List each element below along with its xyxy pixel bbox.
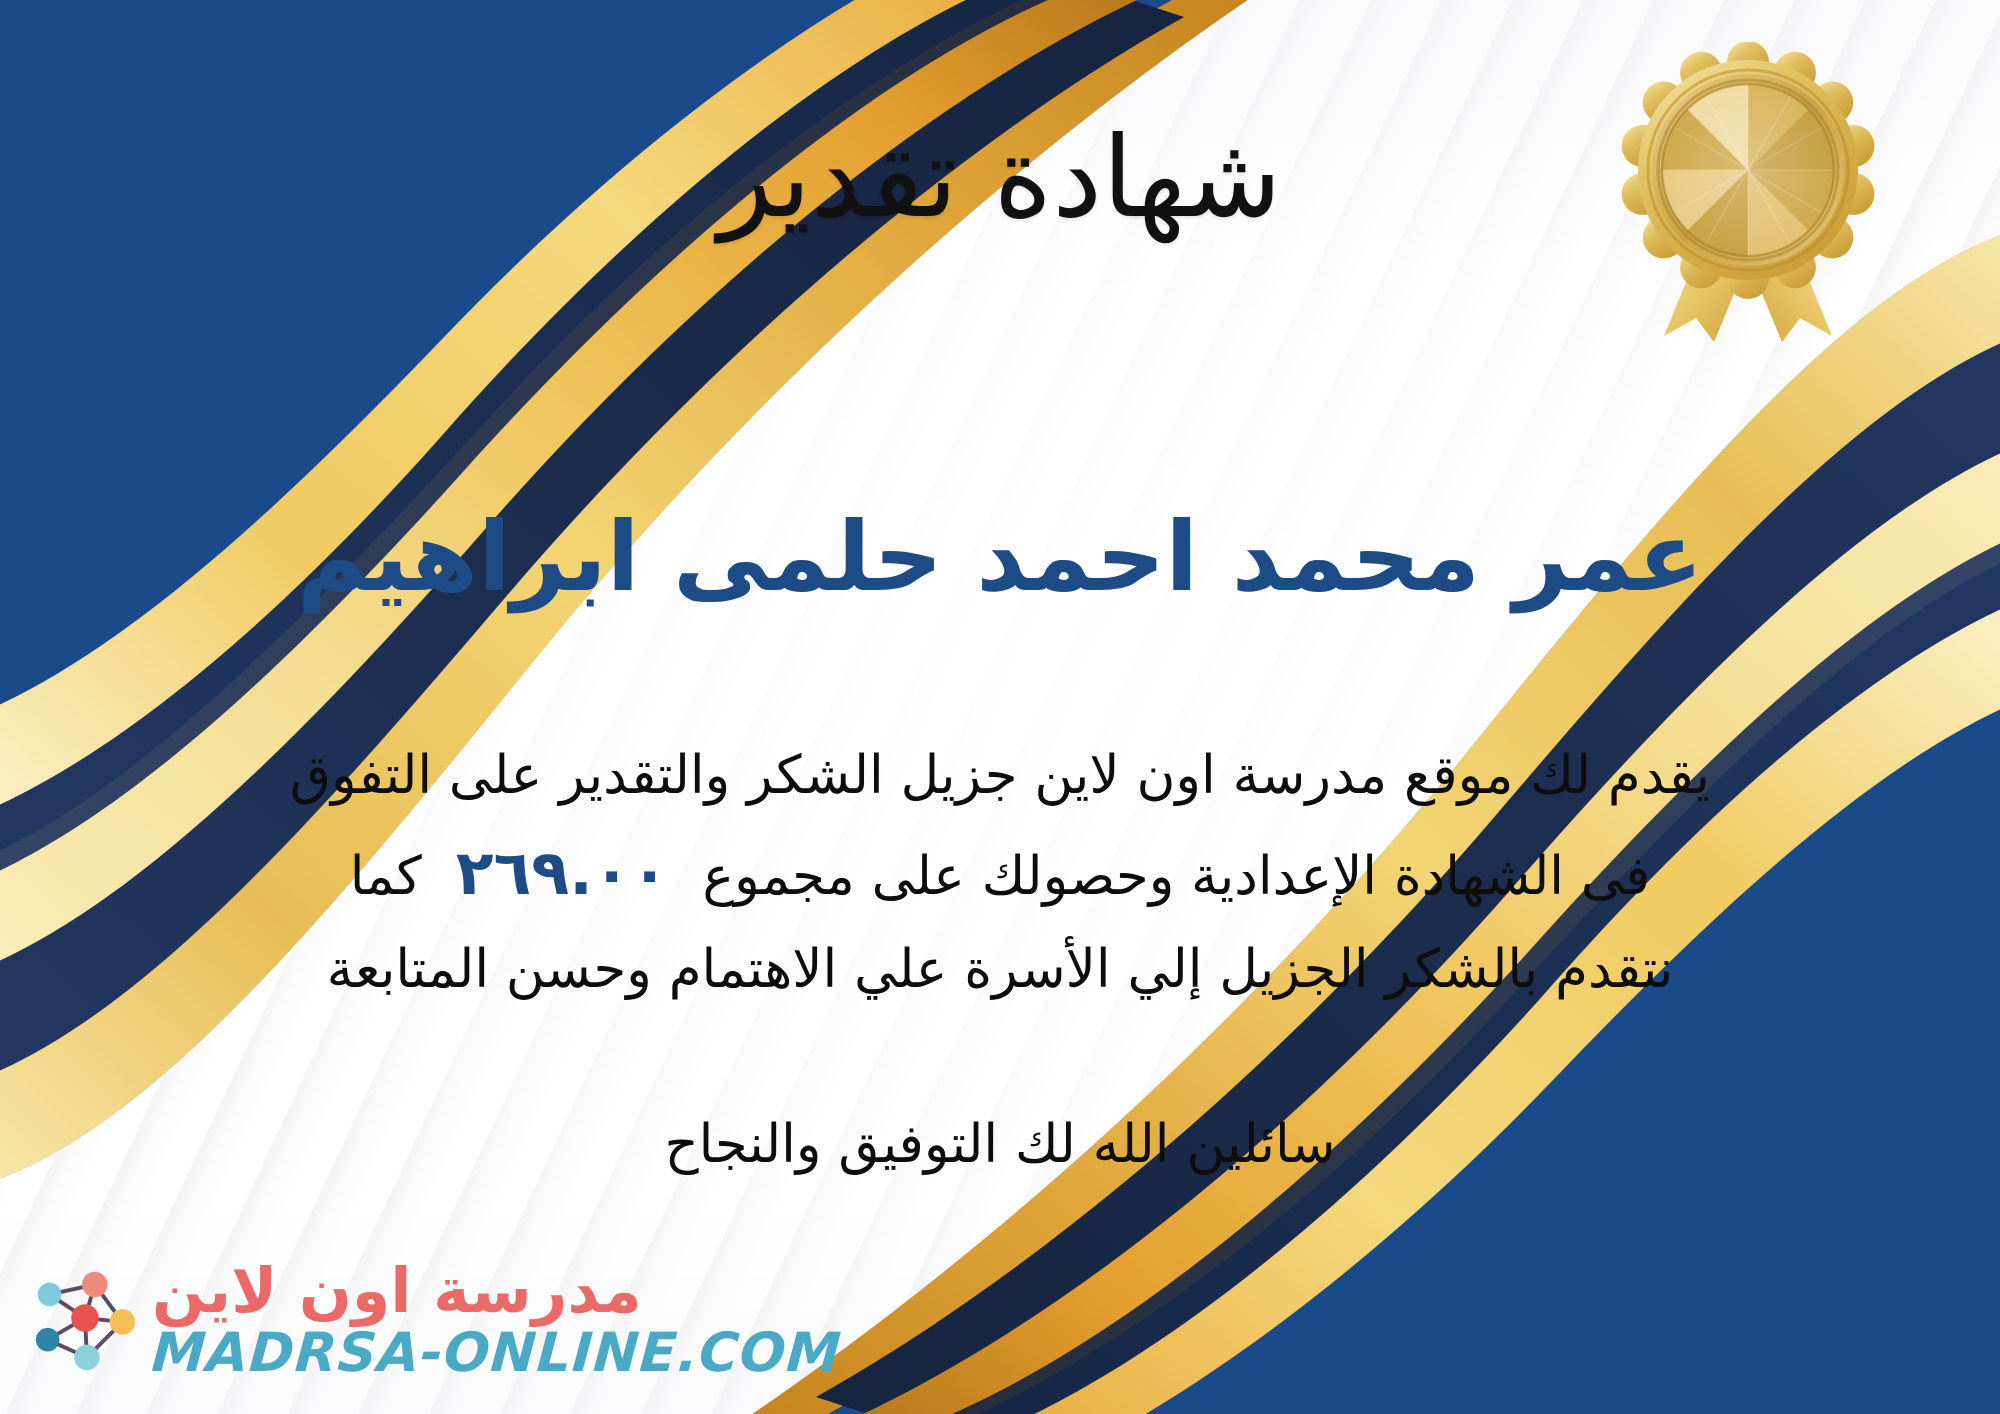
certificate-title: شهادة تقدير — [0, 118, 2000, 239]
closing-wish-text: سائلين الله لك التوفيق والنجاح — [0, 1108, 2000, 1182]
body-line-2: فى الشهادة الإعدادية وحصولك على مجموع ٢٦… — [96, 825, 1904, 921]
brand-text-block: مدرسة اون لاين MADRSA-ONLINE.COM — [152, 1260, 842, 1380]
certificate-content: شهادة تقدير عمر محمد احمد حلمى ابراهيم ي… — [0, 0, 2000, 1414]
certificate-body: يقدم لك موقع مدرسة اون لاين جزيل الشكر و… — [96, 735, 1904, 1019]
brand-website-url: MADRSA-ONLINE.COM — [150, 1326, 843, 1380]
body-line-1: يقدم لك موقع مدرسة اون لاين جزيل الشكر و… — [96, 735, 1904, 817]
brand-arabic-name: مدرسة اون لاين — [152, 1260, 642, 1322]
grade-total-value: ٢٦٩.٠٠ — [456, 825, 669, 921]
body-line-2-text-a: فى الشهادة الإعدادية وحصولك على مجموع — [702, 836, 1650, 918]
network-nodes-icon — [24, 1261, 142, 1379]
brand-logo[interactable]: مدرسة اون لاين MADRSA-ONLINE.COM — [24, 1260, 842, 1380]
certificate-canvas: شهادة تقدير عمر محمد احمد حلمى ابراهيم ي… — [0, 0, 2000, 1414]
body-line-3: نتقدم بالشكر الجزيل إلي الأسرة علي الاهت… — [96, 929, 1904, 1011]
body-line-2-text-b: كما — [350, 836, 422, 918]
recipient-name: عمر محمد احمد حلمى ابراهيم — [0, 505, 2000, 611]
